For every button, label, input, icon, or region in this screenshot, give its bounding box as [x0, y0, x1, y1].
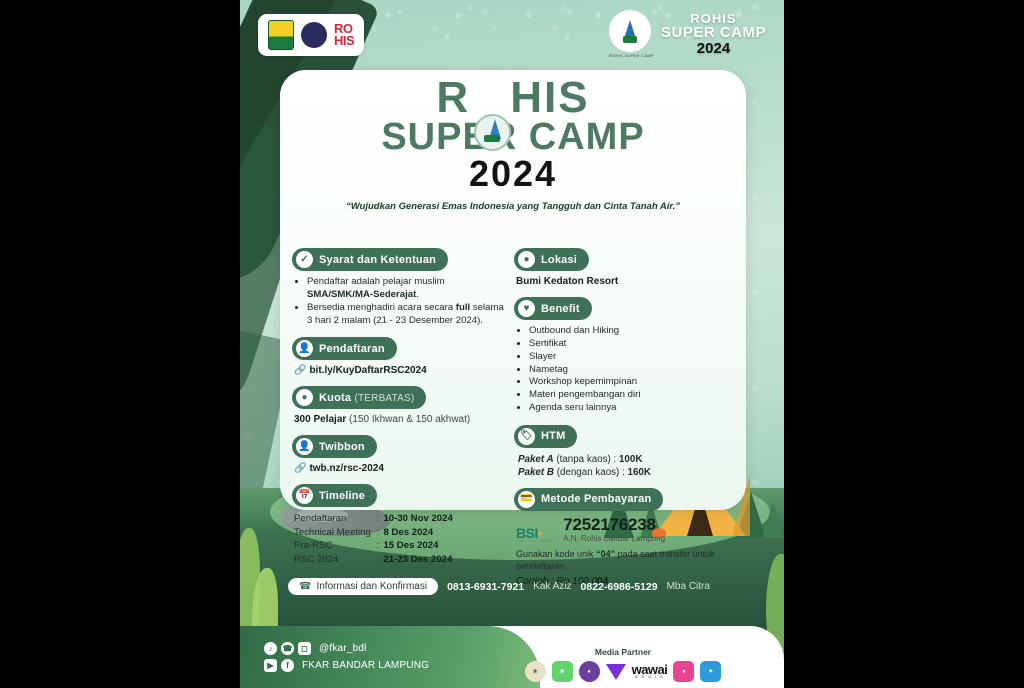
location-pin-icon: ●: [518, 251, 535, 268]
right-column: ● Lokasi Bumi Kedaton Resort ♥ Benefit O…: [514, 248, 724, 587]
payment-block: BSI•Bank Syariah Indonesia 7252176238 A.…: [516, 516, 724, 587]
rohis-logo: RO HIS: [334, 23, 354, 47]
timeline-date: 8 Des 2024: [383, 527, 452, 540]
title-super-camp: SUPER CAMP: [280, 118, 746, 157]
htm-option: (tanpa kaos): [556, 454, 610, 465]
pendaftaran-link[interactable]: bit.ly/KuyDaftarRSC2024: [309, 365, 426, 376]
kuota-detail: (150 Ikhwan & 150 akhwat): [349, 414, 470, 425]
bsi-subtitle: Bank Syariah Indonesia: [516, 540, 556, 543]
list-item: Outbound dan Hiking: [529, 325, 724, 338]
timeline-name: Pra-RSC: [294, 540, 377, 553]
kuota-note: (TERBATAS): [354, 393, 414, 404]
table-row: Pra-RSC:15 Des 2024: [294, 540, 453, 553]
list-item: Workshop kepemimpinan: [529, 376, 724, 389]
poster-tagline: “Wujudkan Generasi Emas Indonesia yang T…: [280, 201, 746, 212]
social-block: ♪ ☎ ◻ @fkar_bdl ▶ f FKAR BANDAR LAMPUNG: [264, 642, 429, 676]
calendar-icon: 📅: [296, 487, 313, 504]
section-syarat: ✓ Syarat dan Ketentuan: [292, 248, 448, 271]
section-twibbon: 👤 Twibbon: [292, 435, 377, 458]
link-icon: 🔗: [294, 463, 306, 474]
section-benefit-label: Benefit: [541, 303, 580, 315]
section-benefit: ♥ Benefit: [514, 297, 592, 320]
contact-name: Mba Citra: [667, 581, 710, 592]
whatsapp-icon[interactable]: ☎: [281, 642, 294, 655]
section-syarat-label: Syarat dan Ketentuan: [319, 254, 436, 266]
twibbon-link-row[interactable]: 🔗twb.nz/rsc-2024: [294, 463, 504, 474]
youtube-icon[interactable]: ▶: [264, 659, 277, 672]
social-row: ▶ f FKAR BANDAR LAMPUNG: [264, 659, 429, 672]
contact-bar: ☎ Informasi dan Konfirmasi 0813-6931-792…: [288, 578, 710, 595]
section-lokasi-label: Lokasi: [541, 254, 577, 266]
section-kuota: ● Kuota (TERBATAS): [292, 386, 426, 409]
htm-row: Paket A (tanpa kaos) : 100K: [518, 453, 724, 467]
list-item: Bersedia menghadiri acara secara full se…: [307, 302, 504, 328]
event-poster: RO HIS ROHIS SUPER CAMP ROHIS SUPER CAMP…: [240, 0, 784, 688]
bsi-logo: BSI•Bank Syariah Indonesia: [516, 527, 556, 543]
title-rohis-r: R: [436, 73, 470, 122]
payment-row: BSI•Bank Syariah Indonesia 7252176238 A.…: [516, 516, 724, 543]
organizer-logos: RO HIS: [258, 14, 364, 56]
user-circle-icon: 👤: [296, 438, 313, 455]
list-item: Nametag: [529, 364, 724, 377]
gen-logo: ●: [673, 661, 694, 682]
tag-icon: 🏷: [518, 428, 535, 445]
timeline-name: Technical Meeting: [294, 527, 377, 540]
social-handle: FKAR BANDAR LAMPUNG: [302, 660, 429, 671]
check-circle-icon: ✓: [296, 251, 313, 268]
account-name: A.N. Rohis Bandar Lampung: [563, 534, 665, 543]
list-item: Materi pengembangan diri: [529, 389, 724, 402]
section-pendaftaran-label: Pendaftaran: [319, 343, 385, 355]
section-lokasi: ● Lokasi: [514, 248, 589, 271]
scout-emblem-icon: [609, 10, 651, 52]
event-badge: ROHIS SUPER CAMP ROHIS SUPER CAMP 2024: [609, 10, 766, 58]
timeline-name: RSC 2024: [294, 554, 377, 567]
badge-caption: ROHIS SUPER CAMP: [609, 53, 654, 58]
wawai-sub: M E D I A: [632, 676, 668, 679]
contact-label-pill: ☎ Informasi dan Konfirmasi: [288, 578, 438, 595]
timeline-name: Pendaftaran: [294, 513, 377, 526]
timeline-sep: :: [377, 554, 384, 567]
table-row: RSC 2024:21-23 Des 2024: [294, 554, 453, 567]
timeline-date: 15 Des 2024: [383, 540, 452, 553]
link-icon: 🔗: [294, 365, 306, 376]
tiktok-icon[interactable]: ♪: [264, 642, 277, 655]
lokasi-value: Bumi Kedaton Resort: [516, 276, 724, 287]
section-pembayaran: 💳 Metode Pembayaran: [514, 488, 663, 511]
instagram-icon[interactable]: ◻: [298, 642, 311, 655]
list-item: Agenda seru lainnya: [529, 402, 724, 415]
list-item: Sertifikat: [529, 338, 724, 351]
account-number: 7252176238: [563, 516, 665, 533]
syarat-1-bold: full: [456, 302, 470, 313]
facebook-icon[interactable]: f: [281, 659, 294, 672]
badge-title: ROHIS SUPER CAMP 2024: [661, 12, 766, 56]
table-row: Pendaftaran:10-30 Nov 2024: [294, 513, 453, 526]
badge-line-1: ROHIS: [661, 12, 766, 25]
syarat-list: Pendaftar adalah pelajar muslim SMA/SMK/…: [292, 276, 504, 327]
payment-note: Gunakan kode unik “04” pada saat transfe…: [516, 548, 724, 572]
section-timeline-label: Timeline: [319, 490, 365, 502]
social-row: ♪ ☎ ◻ @fkar_bdl: [264, 642, 429, 655]
social-handle: @fkar_bdl: [319, 643, 367, 654]
pendaftaran-link-row[interactable]: 🔗bit.ly/KuyDaftarRSC2024: [294, 365, 504, 376]
section-pendaftaran: 👤 Pendaftaran: [292, 337, 397, 360]
poster-footer: ♪ ☎ ◻ @fkar_bdl ▶ f FKAR BANDAR LAMPUNG …: [240, 626, 784, 688]
timeline-date: 10-30 Nov 2024: [383, 513, 452, 526]
title-rohis-his: HIS: [510, 73, 589, 122]
star-logo: ✦: [700, 661, 721, 682]
section-pembayaran-label: Metode Pembayaran: [541, 493, 651, 505]
v-logo: [606, 664, 626, 680]
timeline-table: Pendaftaran:10-30 Nov 2024 Technical Mee…: [294, 513, 453, 567]
timeline-sep: :: [377, 527, 384, 540]
badge-line-2: SUPER CAMP: [661, 25, 766, 40]
contact-name: Kak Aziz: [533, 581, 571, 592]
left-column: ✓ Syarat dan Ketentuan Pendaftar adalah …: [292, 248, 504, 587]
section-timeline: 📅 Timeline: [292, 484, 377, 507]
kuota-value-row: 300 Pelajar (150 Ikhwan & 150 akhwat): [294, 414, 504, 425]
phone-icon: ☎: [299, 581, 311, 592]
benefit-list: Outbound dan Hiking Sertifikat Slayer Na…: [514, 325, 724, 415]
syarat-0-text: Pendaftar adalah pelajar muslim: [307, 276, 445, 287]
heart-icon: ♥: [518, 300, 535, 317]
pine-tree-icon: [762, 502, 784, 538]
htm-price: 100K: [619, 454, 642, 465]
wawai-logo: wawaiM E D I A: [632, 664, 668, 679]
kuota-value: 300 Pelajar: [294, 414, 346, 425]
pin-icon: ●: [296, 389, 313, 406]
rohis-logo-bottom: HIS: [334, 33, 354, 48]
pramuka-logo: [301, 22, 327, 48]
contact-number[interactable]: 0813-6931-7921: [447, 581, 524, 593]
timeline-sep: :: [377, 513, 384, 526]
contact-label: Informasi dan Konfirmasi: [316, 581, 427, 592]
table-row: Technical Meeting:8 Des 2024: [294, 527, 453, 540]
htm-sep: :: [614, 454, 617, 465]
list-item: Pendaftar adalah pelajar muslim SMA/SMK/…: [307, 276, 504, 302]
timeline-date: 21-23 Des 2024: [383, 554, 452, 567]
twibbon-link[interactable]: twb.nz/rsc-2024: [309, 463, 383, 474]
pemkot-logo: [268, 20, 294, 50]
media-partner-title: Media Partner: [478, 647, 768, 657]
fkar-logo: ★: [525, 661, 546, 682]
list-item: Slayer: [529, 351, 724, 364]
payment-unique-code: “04”: [596, 549, 615, 559]
syarat-0-bold: SMA/SMK/MA-Sederajat: [307, 289, 416, 300]
section-twibbon-label: Twibbon: [319, 441, 365, 453]
pramuka-logo: ●: [579, 661, 600, 682]
htm-sep: :: [622, 467, 625, 478]
section-htm-label: HTM: [541, 430, 565, 442]
poster-title: RHIS SUPER CAMP 2024 “Wujudkan Generasi …: [280, 76, 746, 212]
htm-paket: Paket A: [518, 454, 554, 465]
timeline-sep: :: [377, 540, 384, 553]
htm-row: Paket B (dengan kaos) : 160K: [518, 466, 724, 480]
htm-rows: Paket A (tanpa kaos) : 100K Paket B (den…: [518, 453, 724, 480]
payment-note-pre: Gunakan kode unik: [516, 549, 596, 559]
media-partner-block: Media Partner ★ ■ ● wawaiM E D I A ● ✦: [478, 647, 768, 682]
htm-price: 160K: [628, 467, 651, 478]
title-year: 2024: [280, 156, 746, 192]
alif-tv-logo: ■: [552, 661, 573, 682]
screenshot-canvas: RO HIS ROHIS SUPER CAMP ROHIS SUPER CAMP…: [0, 0, 1024, 688]
syarat-1-text: Bersedia menghadiri acara secara: [307, 302, 456, 313]
badge-line-3: 2024: [661, 41, 766, 56]
section-kuota-label: Kuota (TERBATAS): [319, 392, 414, 404]
contact-number[interactable]: 0822-6986-5129: [581, 581, 658, 593]
card-icon: 💳: [518, 491, 535, 508]
user-icon: 👤: [296, 340, 313, 357]
section-htm: 🏷 HTM: [514, 425, 577, 448]
htm-paket: Paket B: [518, 467, 554, 478]
htm-option: (dengan kaos): [557, 467, 620, 478]
kuota-label-text: Kuota: [319, 392, 351, 404]
title-rohis: RHIS: [280, 76, 746, 120]
info-columns: ✓ Syarat dan Ketentuan Pendaftar adalah …: [292, 248, 738, 587]
syarat-0-tail: .: [416, 289, 419, 300]
media-partner-logos: ★ ■ ● wawaiM E D I A ● ✦: [478, 661, 768, 682]
